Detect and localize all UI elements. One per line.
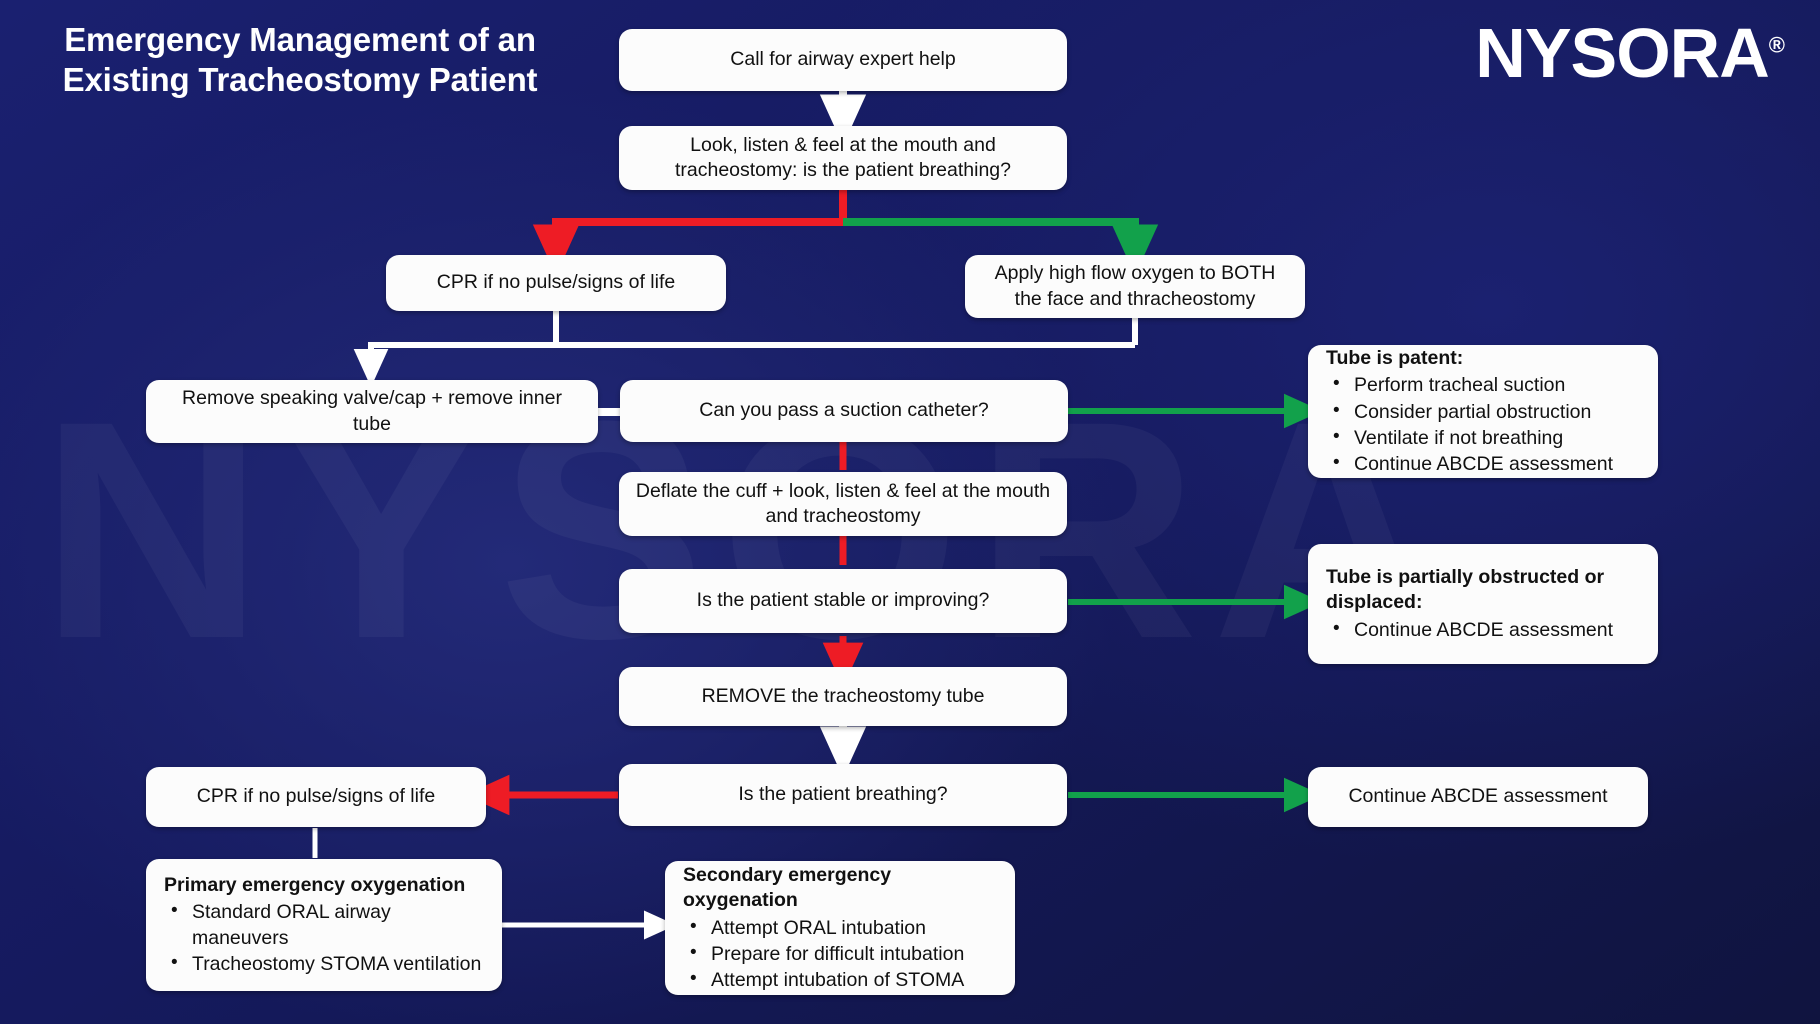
node-secondary-emergency-oxygenation[interactable]: Secondary emergency oxygenation Attempt … bbox=[665, 861, 1015, 995]
node-can-you-pass-suction-catheter[interactable]: Can you pass a suction catheter? bbox=[620, 380, 1068, 442]
node-remove-the-tracheostomy-tube[interactable]: REMOVE the tracheostomy tube bbox=[619, 667, 1067, 726]
node-label: Is the patient stable or improving? bbox=[697, 588, 990, 613]
node-heading: Secondary emergency oxygenation bbox=[683, 863, 999, 914]
list-item: Perform tracheal suction bbox=[1326, 372, 1613, 398]
list-item: Attempt ORAL intubation bbox=[683, 915, 964, 941]
list-item: Tracheostomy STOMA ventilation bbox=[164, 951, 486, 977]
node-bullet-list: Perform tracheal suction Consider partia… bbox=[1326, 372, 1613, 477]
list-item: Consider partial obstruction bbox=[1326, 399, 1613, 425]
node-call-for-airway-expert-help[interactable]: Call for airway expert help bbox=[619, 29, 1067, 91]
edge-yes-to-oxygen bbox=[843, 222, 1135, 250]
node-label: Can you pass a suction catheter? bbox=[699, 398, 988, 423]
node-heading: Tube is partially obstructed or displace… bbox=[1326, 565, 1642, 616]
node-cpr-if-no-pulse-bottom[interactable]: CPR if no pulse/signs of life bbox=[146, 767, 486, 827]
node-label: Deflate the cuff + look, listen & feel a… bbox=[635, 479, 1051, 530]
node-label: CPR if no pulse/signs of life bbox=[197, 784, 435, 809]
node-label: Look, listen & feel at the mouth and tra… bbox=[635, 133, 1051, 184]
node-label: Remove speaking valve/cap + remove inner… bbox=[162, 386, 582, 437]
node-label: Is the patient breathing? bbox=[738, 782, 947, 807]
node-is-patient-stable-or-improving[interactable]: Is the patient stable or improving? bbox=[619, 569, 1067, 633]
list-item: Continue ABCDE assessment bbox=[1326, 617, 1613, 643]
node-tube-partially-obstructed[interactable]: Tube is partially obstructed or displace… bbox=[1308, 544, 1658, 664]
registered-trademark-icon: ® bbox=[1769, 33, 1784, 58]
page-title: Emergency Management of an Existing Trac… bbox=[40, 20, 560, 99]
list-item: Standard ORAL airway maneuvers bbox=[164, 899, 486, 951]
edge-no-to-cpr bbox=[556, 222, 843, 250]
list-item: Ventilate if not breathing bbox=[1326, 425, 1613, 451]
node-cpr-if-no-pulse-top[interactable]: CPR if no pulse/signs of life bbox=[386, 255, 726, 311]
node-apply-high-flow-oxygen[interactable]: Apply high flow oxygen to BOTH the face … bbox=[965, 255, 1305, 318]
node-label: Apply high flow oxygen to BOTH the face … bbox=[981, 261, 1289, 312]
node-continue-abcde-assessment[interactable]: Continue ABCDE assessment bbox=[1308, 767, 1648, 827]
node-heading: Primary emergency oxygenation bbox=[164, 873, 465, 898]
node-deflate-the-cuff[interactable]: Deflate the cuff + look, listen & feel a… bbox=[619, 472, 1067, 536]
node-tube-is-patent[interactable]: Tube is patent: Perform tracheal suction… bbox=[1308, 345, 1658, 478]
node-label: CPR if no pulse/signs of life bbox=[437, 270, 675, 295]
node-remove-speaking-valve[interactable]: Remove speaking valve/cap + remove inner… bbox=[146, 380, 598, 443]
node-label: Continue ABCDE assessment bbox=[1348, 784, 1607, 809]
list-item: Prepare for difficult intubation bbox=[683, 941, 964, 967]
list-item: Continue ABCDE assessment bbox=[1326, 451, 1613, 477]
list-item: Attempt intubation of STOMA bbox=[683, 967, 964, 993]
node-label: Call for airway expert help bbox=[730, 47, 955, 72]
edge-merge-bus bbox=[371, 345, 1135, 368]
node-primary-emergency-oxygenation[interactable]: Primary emergency oxygenation Standard O… bbox=[146, 859, 502, 991]
node-heading: Tube is patent: bbox=[1326, 346, 1463, 371]
node-bullet-list: Standard ORAL airway maneuvers Tracheost… bbox=[164, 899, 486, 977]
nysora-logo: NYSORA® bbox=[1475, 18, 1784, 88]
node-bullet-list: Attempt ORAL intubation Prepare for diff… bbox=[683, 915, 964, 993]
node-is-patient-breathing[interactable]: Is the patient breathing? bbox=[619, 764, 1067, 826]
node-label: REMOVE the tracheostomy tube bbox=[702, 684, 985, 709]
node-bullet-list: Continue ABCDE assessment bbox=[1326, 617, 1613, 643]
node-look-listen-feel[interactable]: Look, listen & feel at the mouth and tra… bbox=[619, 126, 1067, 190]
logo-text: NYSORA bbox=[1475, 14, 1768, 92]
